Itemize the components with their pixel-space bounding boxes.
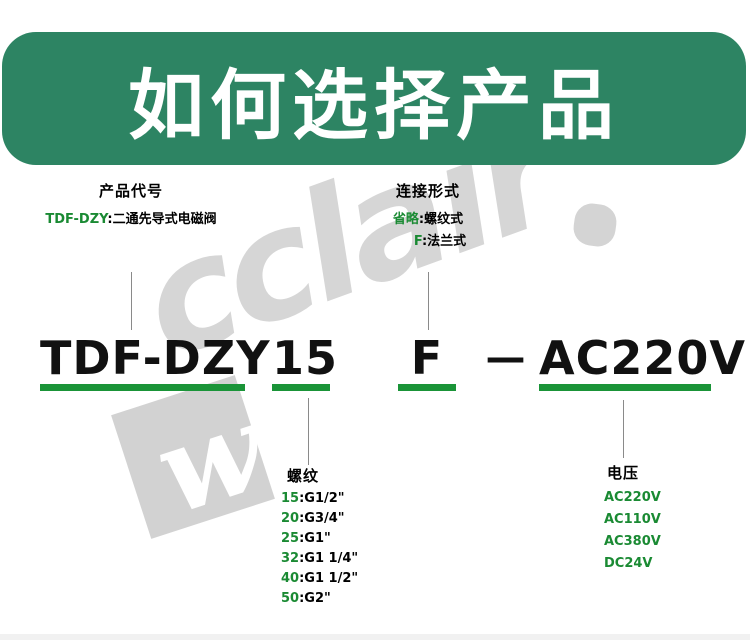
option-voltage-list: AC220V AC110V AC380V DC24V (604, 487, 661, 575)
option-voltage-row: AC220V (604, 487, 661, 509)
option-thread-title: 螺纹 (287, 465, 319, 486)
option-thread-key-2: 25 (281, 531, 299, 546)
option-thread-row: 25:G1" (281, 529, 358, 549)
code-segment-size-underline (272, 384, 330, 391)
option-thread-value-0: :G1/2" (299, 491, 344, 506)
code-segment-separator: — (482, 333, 530, 383)
option-thread-key-3: 32 (281, 551, 299, 566)
product-selection-diagram: cclair w 如何选择产品 产品代号 TDF-DZY:二通先导式电磁阀 连接… (0, 0, 750, 640)
option-thread-row: 40:G1 1/2" (281, 569, 358, 589)
code-segment-separator-text: — (482, 333, 530, 383)
watermark-dot-icon (571, 201, 618, 248)
watermark-logo-letter: w (134, 384, 285, 535)
option-thread-value-3: :G1 1/4" (299, 551, 358, 566)
code-segment-connection-underline (398, 384, 456, 391)
code-segment-voltage-text: AC220V (539, 333, 711, 383)
connector-line-product-code (131, 272, 132, 330)
code-segment-voltage-underline (539, 384, 711, 391)
callout-product-code-key-0: TDF-DZY (45, 212, 107, 227)
callout-product-code-title: 产品代号 (99, 180, 163, 201)
option-thread-value-4: :G1 1/2" (299, 571, 358, 586)
option-thread-value-5: :G2" (299, 591, 331, 606)
code-segment-connection-text: F (398, 333, 456, 383)
option-thread-row: 50:G2" (281, 589, 358, 609)
callout-connection-type-key-1: F (414, 234, 422, 249)
option-thread-value-2: :G1" (299, 531, 331, 546)
connector-line-voltage (623, 400, 624, 458)
callout-connection-type-line-1: F:法兰式 (414, 230, 466, 249)
option-thread-key-4: 40 (281, 571, 299, 586)
option-thread-value-1: :G3/4" (299, 511, 344, 526)
option-thread-list: 15:G1/2" 20:G3/4" 25:G1" 32:G1 1/4" 40:G… (281, 489, 358, 609)
callout-connection-type-value-0: :螺纹式 (419, 212, 463, 227)
code-segment-product-underline (40, 384, 245, 391)
option-thread-key-1: 20 (281, 511, 299, 526)
code-segment-size-text: 15 (272, 333, 330, 383)
page-title: 如何选择产品 (2, 32, 746, 165)
callout-connection-type-key-0: 省略 (393, 212, 419, 227)
option-thread-row: 15:G1/2" (281, 489, 358, 509)
connector-line-connection-type (428, 272, 429, 330)
callout-connection-type-title: 连接形式 (396, 180, 460, 201)
code-segment-connection: F (398, 333, 456, 391)
callout-connection-type-line-0: 省略:螺纹式 (393, 208, 463, 227)
option-voltage-row: AC380V (604, 531, 661, 553)
code-segment-product: TDF-DZY (40, 333, 245, 391)
header-banner: 如何选择产品 (2, 32, 746, 165)
code-segment-product-text: TDF-DZY (40, 333, 245, 383)
callout-product-code-value-0: :二通先导式电磁阀 (107, 212, 216, 227)
callout-connection-type-value-1: :法兰式 (422, 234, 466, 249)
option-thread-key-5: 50 (281, 591, 299, 606)
code-segment-size: 15 (272, 333, 330, 391)
watermark-logo-square (111, 375, 275, 539)
option-voltage-row: AC110V (604, 509, 661, 531)
option-thread-key-0: 15 (281, 491, 299, 506)
code-segment-voltage: AC220V (539, 333, 711, 391)
option-thread-row: 20:G3/4" (281, 509, 358, 529)
callout-product-code-line-0: TDF-DZY:二通先导式电磁阀 (45, 208, 216, 227)
option-voltage-title: 电压 (607, 462, 639, 483)
connector-line-thread (308, 398, 309, 465)
option-thread-row: 32:G1 1/4" (281, 549, 358, 569)
option-voltage-row: DC24V (604, 553, 661, 575)
bottom-divider (0, 634, 750, 640)
